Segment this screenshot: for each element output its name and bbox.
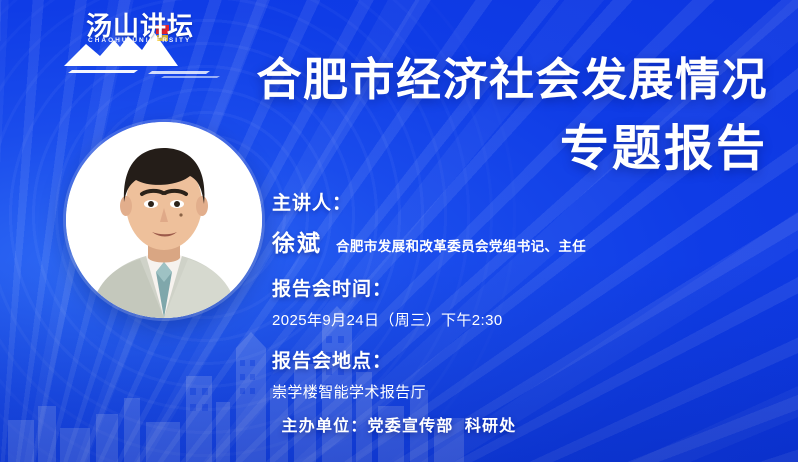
lecture-poster: 汤山讲坛 CHAOHU UNIVERSITY <box>0 0 798 462</box>
venue-group: 报告会地点： 崇学楼智能学术报告厅 <box>272 346 712 402</box>
event-details: 主讲人： 徐斌 合肥市发展和改革委员会党组书记、主任 报告会时间： 2025年9… <box>272 188 712 402</box>
headline-line-1: 合肥市经济社会发展情况 <box>256 56 768 105</box>
time-label: 报告会时间： <box>272 274 712 301</box>
time-value: 2025年9月24日（周三）下午2:30 <box>272 309 712 330</box>
logo-name-en: CHAOHU UNIVERSITY <box>88 37 191 44</box>
poster-headline: 合肥市经济社会发展情况 专题报告 <box>256 56 768 176</box>
headline-line-2: 专题报告 <box>256 123 768 176</box>
speaker-title: 合肥市发展和改革委员会党组书记、主任 <box>336 235 586 255</box>
speaker-portrait <box>66 122 262 318</box>
venue-value: 崇学楼智能学术报告厅 <box>272 381 712 402</box>
speaker-label: 主讲人： <box>272 188 712 215</box>
time-group: 报告会时间： 2025年9月24日（周三）下午2:30 <box>272 274 712 330</box>
organizer-text: 主办单位：党委宣传部 科研处 <box>282 412 517 436</box>
poster-footer: 主办单位：党委宣传部 科研处 <box>0 412 798 436</box>
speaker-row: 徐斌 合肥市发展和改革委员会党组书记、主任 <box>272 224 712 258</box>
speaker-name: 徐斌 <box>272 224 322 258</box>
venue-label: 报告会地点： <box>272 346 712 373</box>
